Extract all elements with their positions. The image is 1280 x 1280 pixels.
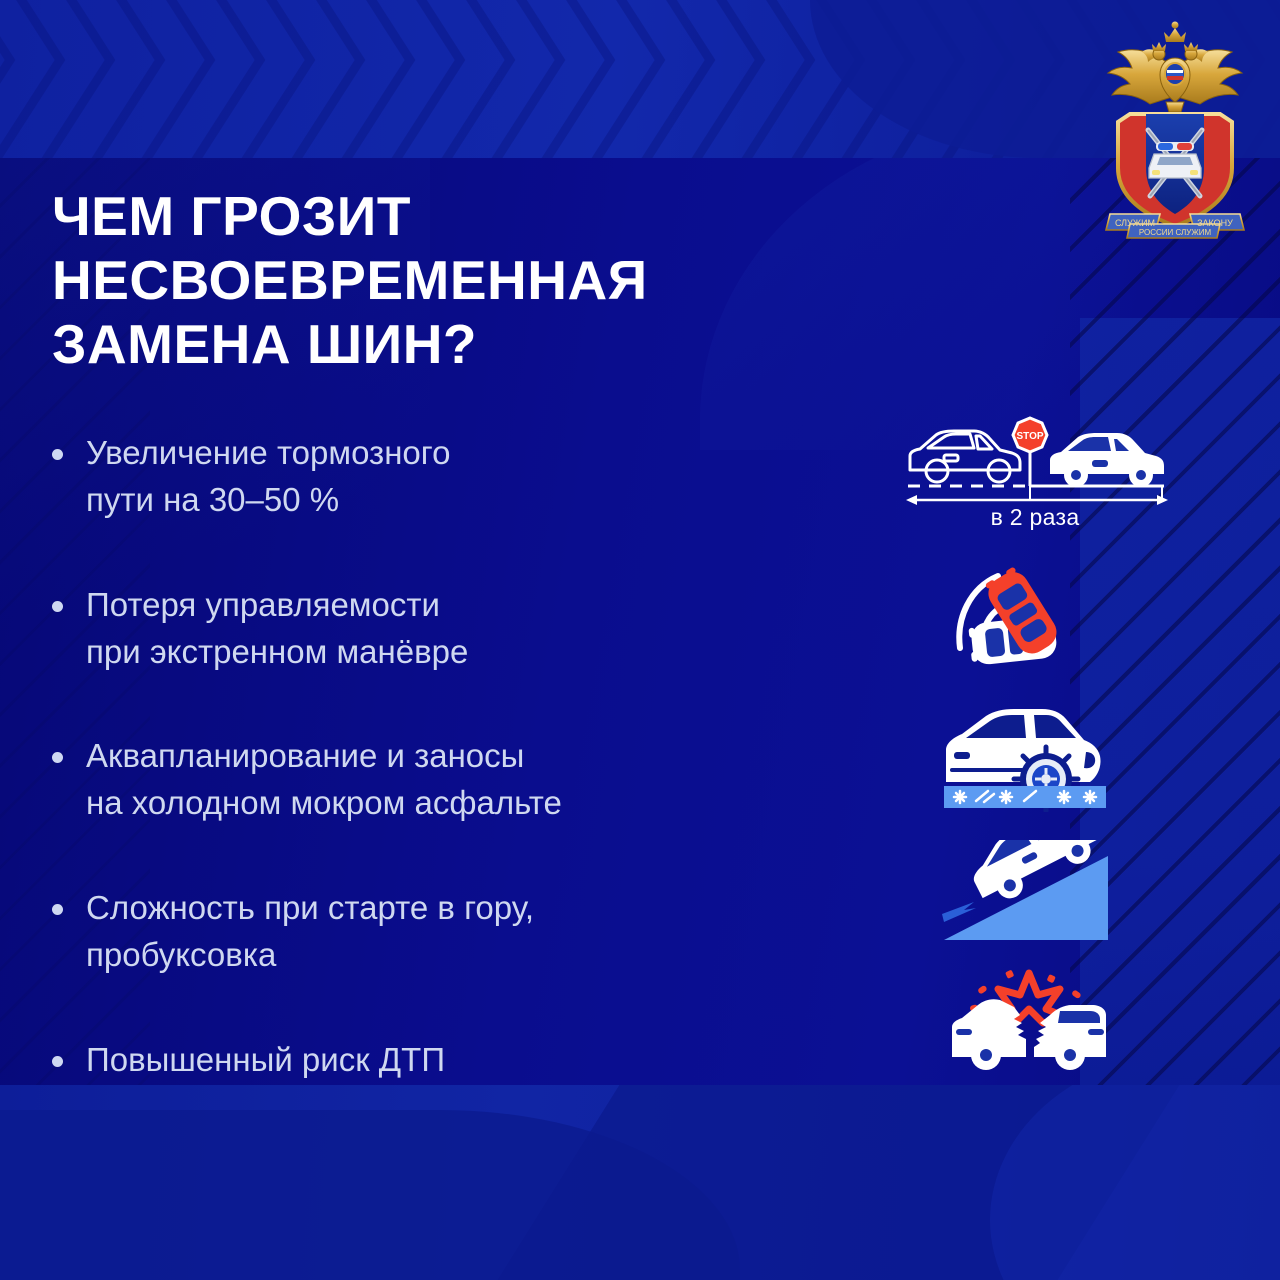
ribbon-text-left: СЛУЖИМ [1115, 218, 1155, 228]
list-item-label: Потеря управляемости при экстренном манё… [86, 582, 468, 676]
bullet-dot-icon [52, 601, 63, 612]
bullet-dot-icon [52, 1056, 63, 1067]
background-top-band [0, 0, 1280, 158]
motion-lines-icon [942, 902, 976, 922]
background-bottom-band [0, 1085, 1280, 1280]
car-on-icy-road-illustration [940, 700, 1112, 812]
title-line-2: НЕСВОЕВРЕМЕННАЯ [52, 249, 812, 313]
title-line-1: ЧЕМ ГРОЗИТ [52, 185, 812, 249]
double-headed-eagle-icon [1108, 22, 1242, 113]
emblem-shield-icon [1118, 114, 1232, 226]
braking-distance-icon: STOP в 2 раза [900, 408, 1170, 528]
risk-list: Увеличение тормозного пути на 30–50 % По… [52, 430, 842, 1084]
ribbon-text-right: ЗАКОНУ [1197, 218, 1233, 228]
list-item-accident-risk: Повышенный риск ДТП [52, 1037, 842, 1084]
aquaplaning-icon [940, 700, 1112, 812]
list-item-label: Аквапланирование и заносы на холодном мо… [86, 733, 562, 827]
outline-car-icon [910, 431, 1020, 470]
poster-root: СЛУЖИМ РОССИИ СЛУЖИМ ЗАКОНУ ЧЕМ ГРОЗИТ Н… [0, 0, 1280, 1280]
stop-sign-label: STOP [1016, 431, 1043, 442]
title-line-3: ЗАМЕНА ШИН? [52, 313, 812, 377]
icy-road-icon [944, 786, 1106, 808]
list-item-braking-distance: Увеличение тормозного пути на 30–50 % [52, 430, 842, 524]
bullet-dot-icon [52, 752, 63, 763]
list-item-label: Повышенный риск ДТП [86, 1037, 445, 1084]
mvd-emblem: СЛУЖИМ РОССИИ СЛУЖИМ ЗАКОНУ [1092, 18, 1258, 244]
page-title: ЧЕМ ГРОЗИТ НЕСВОЕВРЕМЕННАЯ ЗАМЕНА ШИН? [52, 185, 812, 376]
list-item-aquaplaning: Аквапланирование и заносы на холодном мо… [52, 733, 842, 827]
bullet-dot-icon [52, 904, 63, 915]
bullet-dot-icon [52, 449, 63, 460]
list-item-label: Сложность при старте в гору, пробуксовка [86, 885, 534, 979]
car-collision-illustration [948, 965, 1110, 1073]
loss-of-control-icon [950, 562, 1110, 680]
skidding-cars-illustration [950, 562, 1110, 680]
mvd-emblem-icon: СЛУЖИМ РОССИИ СЛУЖИМ ЗАКОНУ [1092, 18, 1258, 244]
list-item-uphill-start: Сложность при старте в гору, пробуксовка [52, 885, 842, 979]
accident-risk-icon [948, 965, 1110, 1073]
ribbon-text-center: РОССИИ СЛУЖИМ [1139, 228, 1212, 237]
list-item-loss-of-control: Потеря управляемости при экстренном манё… [52, 582, 842, 676]
stop-sign-icon: STOP [1013, 418, 1047, 486]
police-car-icon [1149, 142, 1201, 178]
uphill-start-icon [940, 840, 1112, 952]
list-item-label: Увеличение тормозного пути на 30–50 % [86, 430, 450, 524]
car-on-slope-illustration [940, 840, 1112, 952]
braking-distance-caption: в 2 раза [900, 504, 1170, 531]
